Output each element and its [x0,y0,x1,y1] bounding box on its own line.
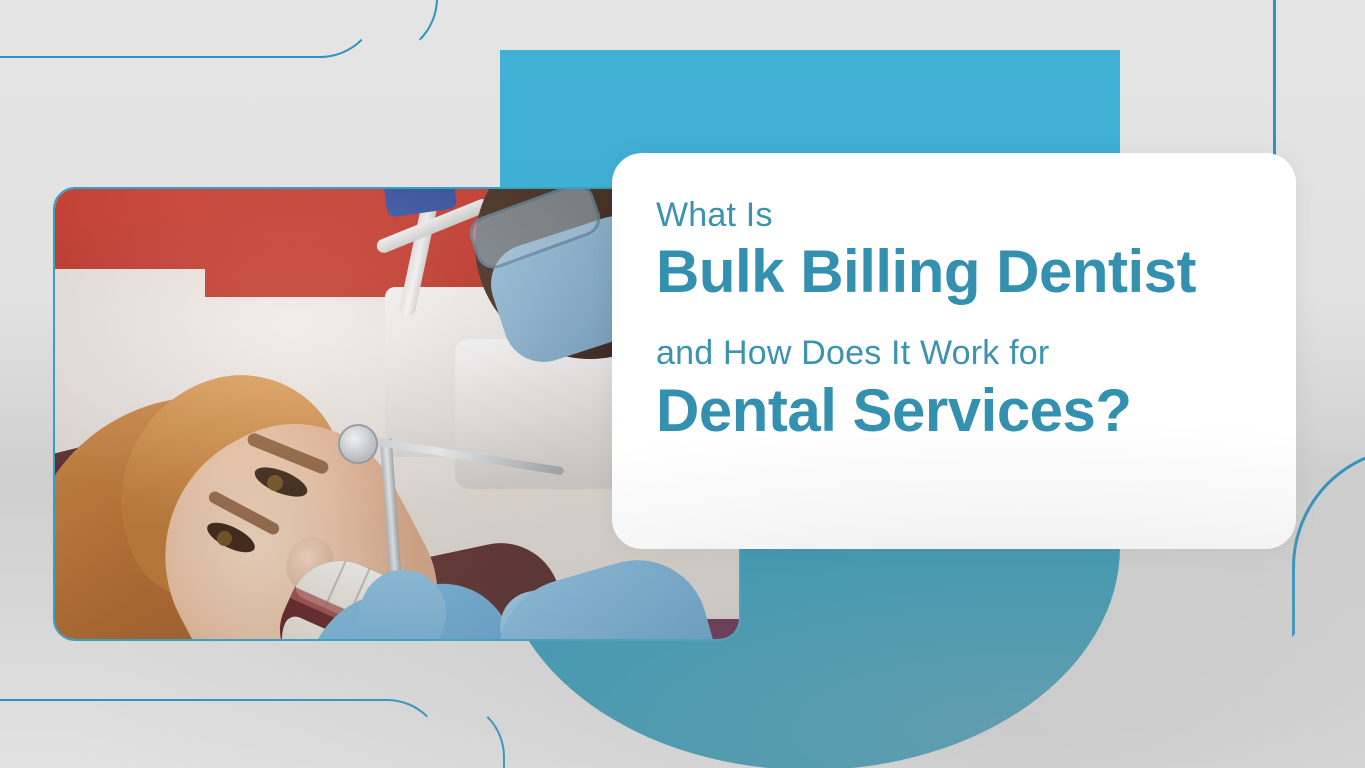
headline-line-2: Bulk Billing Dentist [656,240,1266,305]
headline-block: What Is Bulk Billing Dentist and How Doe… [656,197,1266,443]
headline-card: What Is Bulk Billing Dentist and How Doe… [612,153,1296,549]
top-left-outline-arc-decoration [318,0,438,58]
right-curve-decoration [1292,447,1365,637]
headline-line-4: Dental Services? [656,379,1266,444]
headline-line-3: and How Does It Work for [656,335,1266,372]
top-left-outline-decoration [0,0,380,58]
bottom-left-outline-decoration [0,699,445,768]
bottom-left-outline-arc-decoration [385,699,505,768]
headline-line-1: What Is [656,197,1266,234]
banner-stage: What Is Bulk Billing Dentist and How Doe… [0,0,1365,768]
right-vertical-line-decoration [1273,0,1276,156]
